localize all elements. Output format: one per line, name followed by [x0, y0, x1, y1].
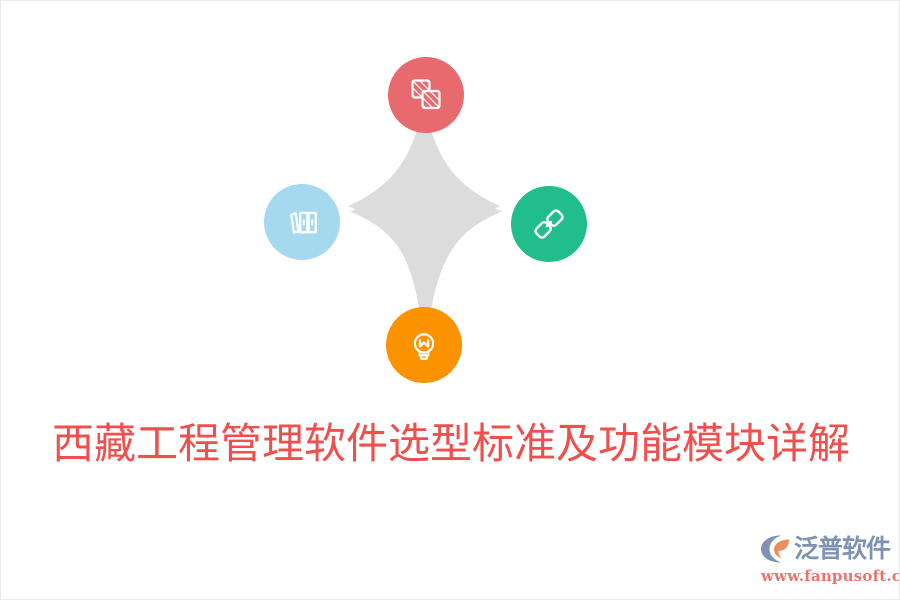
node-copy-layers[interactable]	[388, 57, 464, 133]
concept-diagram	[256, 41, 596, 386]
fanpu-crescent-logo-icon	[759, 534, 793, 564]
node-books-archive[interactable]	[264, 184, 340, 260]
logo-url-text: www.fanpusoft.com	[761, 567, 900, 586]
node-link-chain[interactable]	[511, 186, 587, 262]
poster-canvas: 西藏工程管理软件选型标准及功能模块详解 泛普软件 www.fanpusoft.c…	[0, 0, 900, 600]
node-lightbulb-idea[interactable]	[386, 307, 462, 383]
logo-brand-text: 泛普软件	[794, 534, 890, 564]
copy-layers-icon	[406, 75, 446, 115]
books-archive-icon	[282, 202, 322, 242]
lightbulb-idea-icon	[404, 325, 444, 365]
page-title: 西藏工程管理软件选型标准及功能模块详解	[1, 416, 900, 472]
logo-lockup: 泛普软件	[759, 532, 890, 566]
brand-logo[interactable]: 泛普软件 www.fanpusoft.com	[759, 532, 893, 587]
link-chain-icon	[529, 204, 569, 244]
